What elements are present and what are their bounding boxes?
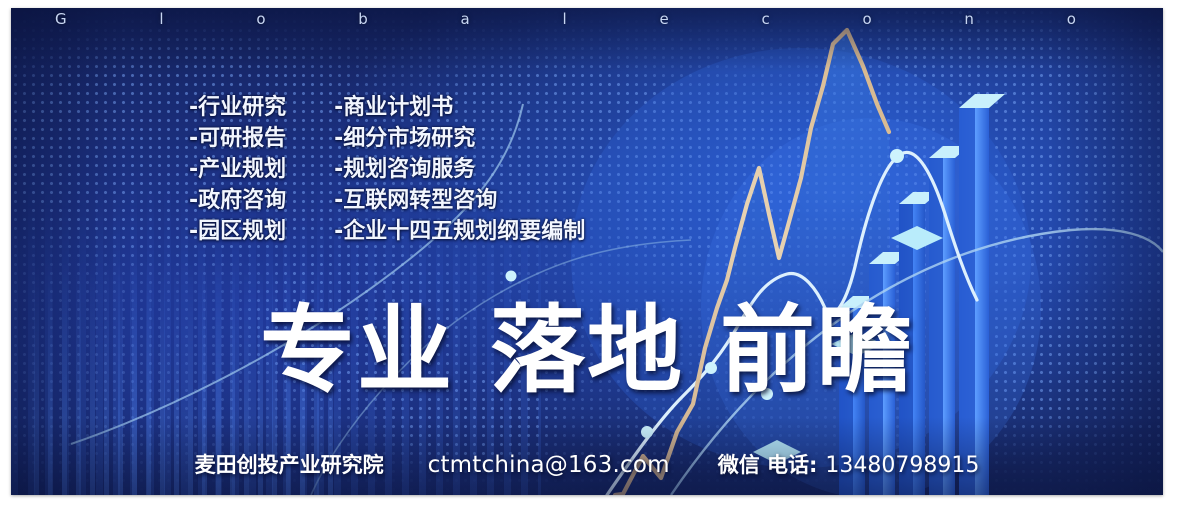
service-item: -企业十四五规划纲要编制 <box>334 216 585 247</box>
slogan-word-forward-looking: 前瞻 <box>720 304 914 399</box>
service-item: -可研报告 <box>189 123 286 154</box>
wechat-phone-label: 微信 电话: <box>718 449 818 479</box>
slogan-word-grounded: 落地 <box>490 304 684 399</box>
service-item: -政府咨询 <box>189 185 286 216</box>
service-item: -互联网转型咨询 <box>334 185 585 216</box>
service-item: -行业研究 <box>189 92 286 123</box>
growth-chart-graphic <box>11 8 1163 495</box>
promotional-banner: G l o b a l e c o n o m y -行业研究 -可研报告 -产… <box>11 8 1163 495</box>
main-slogan: 专业落地前瞻 <box>11 304 1163 399</box>
contact-email[interactable]: ctmtchina@163.com <box>428 452 670 478</box>
service-list-group: -行业研究 -可研报告 -产业规划 -政府咨询 -园区规划 -商业计划书 -细分… <box>189 92 585 247</box>
service-item: -园区规划 <box>189 216 286 247</box>
contact-footer: 麦田创投产业研究院ctmtchina@163.com微信 电话:13480798… <box>11 449 1163 479</box>
service-list-right: -商业计划书 -细分市场研究 -规划咨询服务 -互联网转型咨询 -企业十四五规划… <box>334 92 585 247</box>
service-item: -产业规划 <box>189 154 286 185</box>
service-list-left: -行业研究 -可研报告 -产业规划 -政府咨询 -园区规划 <box>189 92 286 247</box>
contact-phone[interactable]: 13480798915 <box>825 453 979 478</box>
slogan-word-professional: 专业 <box>260 304 454 399</box>
service-item: -规划咨询服务 <box>334 154 585 185</box>
header-global-economy: G l o b a l e c o n o m y <box>11 10 1163 28</box>
service-item: -细分市场研究 <box>334 123 585 154</box>
service-item: -商业计划书 <box>334 92 585 123</box>
company-name: 麦田创投产业研究院 <box>195 449 384 479</box>
